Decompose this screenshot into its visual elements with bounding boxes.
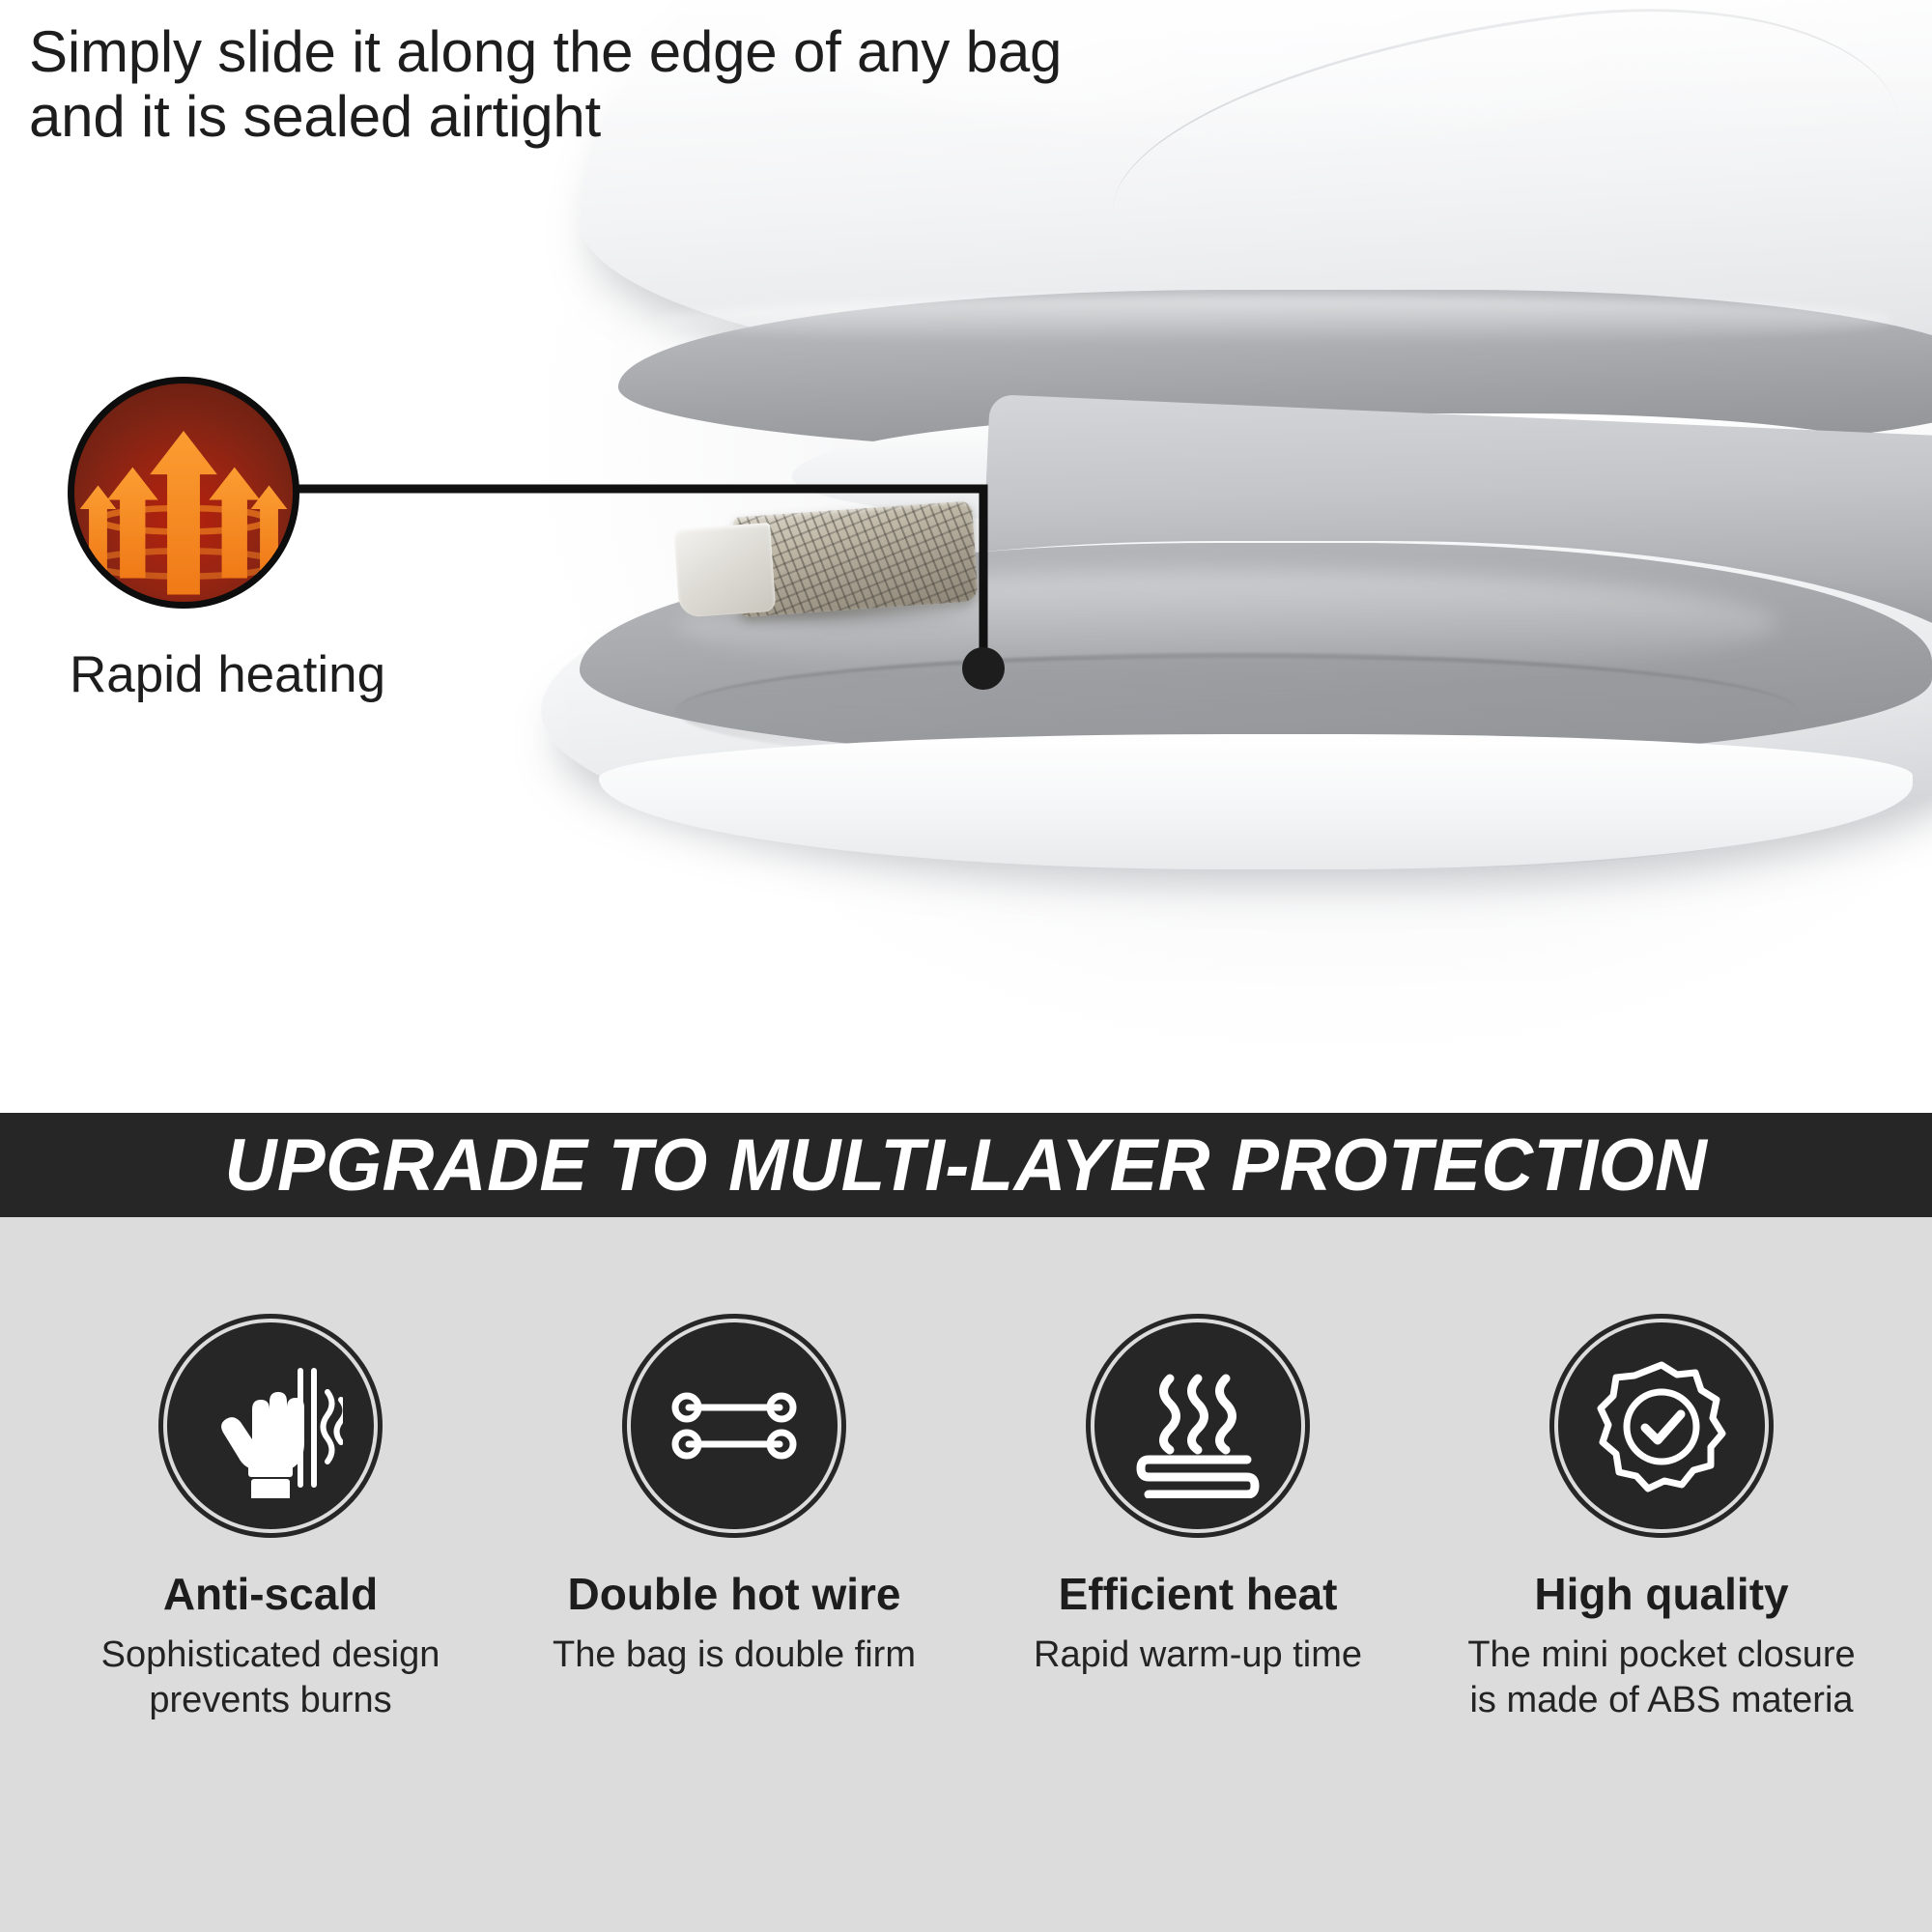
heat-waves-coil-icon <box>1091 1319 1305 1533</box>
section-banner: UPGRADE TO MULTI-LAYER PROTECTION <box>0 1113 1932 1217</box>
feature-description: The mini pocket closure is made of ABS m… <box>1454 1633 1869 1724</box>
double-wire-icon <box>627 1319 841 1533</box>
heat-rising-arrows-icon <box>74 384 293 602</box>
feature-description: Rapid warm-up time <box>1034 1633 1362 1679</box>
feature-item: Anti-scald Sophisticated design prevents… <box>63 1319 478 1724</box>
feature-item: Double hot wire The bag is double firm <box>526 1319 942 1678</box>
rapid-heating-badge <box>68 377 299 609</box>
feature-item: High quality The mini pocket closure is … <box>1454 1319 1869 1724</box>
callout-label: Rapid heating <box>70 645 385 704</box>
feature-title: Efficient heat <box>1059 1570 1338 1619</box>
feature-item: Efficient heat Rapid warm-up time <box>990 1319 1406 1678</box>
banner-title: UPGRADE TO MULTI-LAYER PROTECTION <box>225 1123 1708 1207</box>
hand-heat-shield-icon <box>163 1319 378 1533</box>
feature-title: High quality <box>1534 1570 1788 1619</box>
page-title: Simply slide it along the edge of any ba… <box>29 19 1169 149</box>
features-strip: Anti-scald Sophisticated design prevents… <box>0 1217 1932 1932</box>
feature-description: Sophisticated design prevents burns <box>63 1633 478 1724</box>
quality-badge-check-icon <box>1554 1319 1769 1533</box>
feature-title: Double hot wire <box>568 1570 901 1619</box>
callout-rapid-heating: Rapid heating <box>68 377 435 715</box>
feature-title: Anti-scald <box>163 1570 378 1619</box>
feature-description: The bag is double firm <box>553 1633 916 1679</box>
hero-section: Simply slide it along the edge of any ba… <box>0 0 1932 1116</box>
infographic-page: Simply slide it along the edge of any ba… <box>0 0 1932 1932</box>
